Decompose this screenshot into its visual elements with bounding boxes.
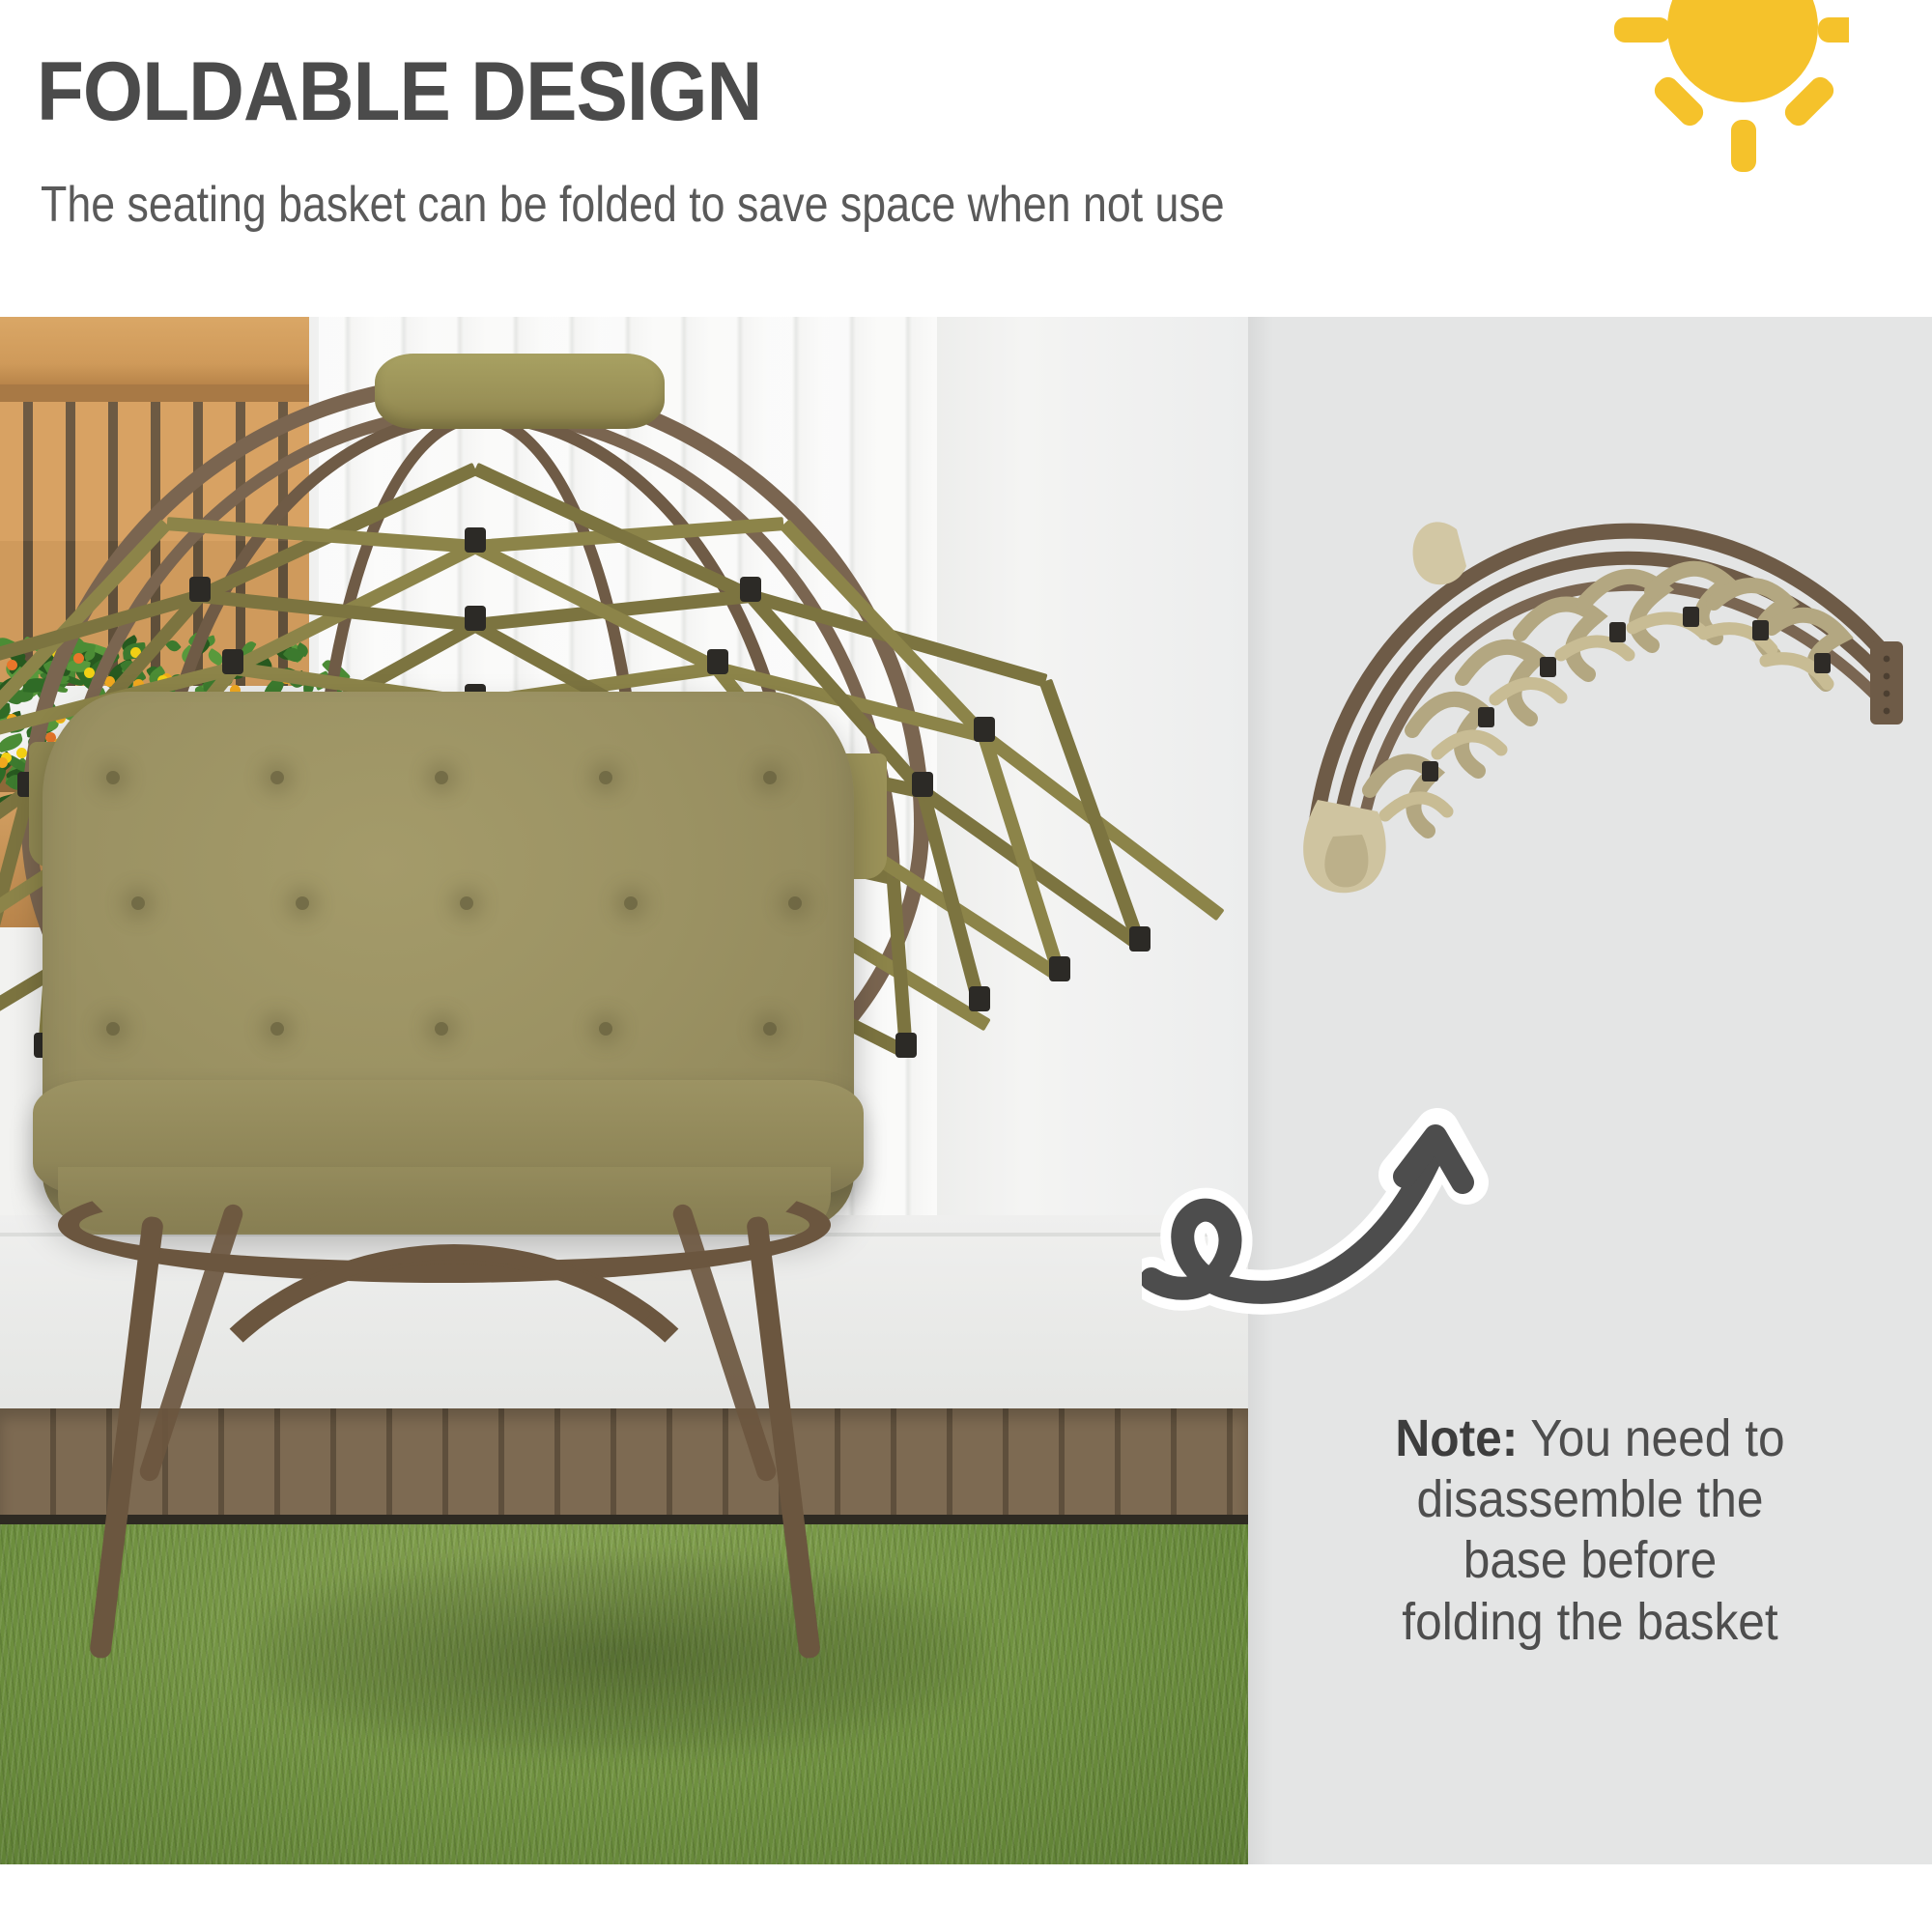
note-line-0-text: You need to	[1530, 1409, 1784, 1467]
basket-chair	[0, 317, 1248, 1864]
note-line-3: folding the basket	[1311, 1592, 1869, 1653]
header-band: FOLDABLE DESIGN The seating basket can b…	[0, 0, 1932, 317]
main-product-photo	[0, 317, 1248, 1864]
note-line-1: disassemble the	[1311, 1469, 1869, 1530]
headrest-pad	[375, 354, 665, 429]
page-subtitle: The seating basket can be folded to save…	[41, 180, 1225, 230]
side-panel: Note: You need to disassemble the base b…	[1248, 317, 1932, 1864]
folded-basket-photo	[1277, 471, 1915, 896]
note-line-2: base before	[1311, 1530, 1869, 1591]
note-prefix: Note:	[1395, 1409, 1518, 1467]
curved-loop-arrow-icon	[1142, 983, 1528, 1331]
note-text: Note: You need to disassemble the base b…	[1287, 1408, 1893, 1653]
sun-icon	[1598, 0, 1849, 199]
product-infographic: FOLDABLE DESIGN The seating basket can b…	[0, 0, 1932, 1932]
note-line-0: Note: You need to	[1311, 1408, 1869, 1469]
page-title: FOLDABLE DESIGN	[37, 50, 761, 133]
footer-band	[0, 1864, 1932, 1932]
base-arch-inner	[189, 1246, 719, 1652]
